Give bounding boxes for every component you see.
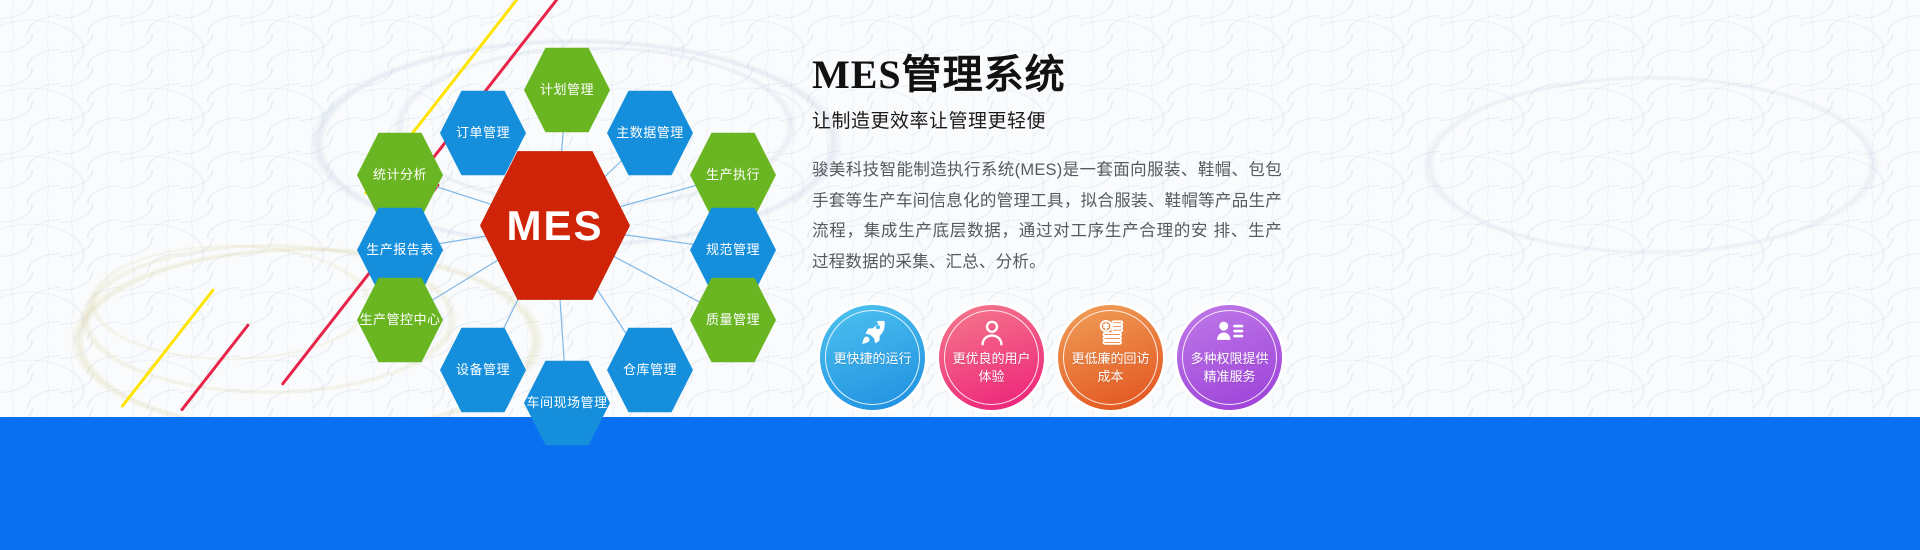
badge-text: 多种权限提供精准服务 xyxy=(1184,350,1276,385)
hex-node-label: 主数据管理 xyxy=(616,125,684,140)
hex-center-label: MES xyxy=(506,201,603,251)
hex-node-label: 质量管理 xyxy=(706,312,760,327)
hex-node-label: 仓库管理 xyxy=(623,362,677,377)
hex-node-label: 统计分析 xyxy=(373,167,427,182)
hex-node-label: 设备管理 xyxy=(456,362,510,377)
page-title: MES管理系统 xyxy=(812,52,1282,98)
content-column: MES管理系统 让制造更效率让管理更轻便 骏美科技智能制造执行系统(MES)是一… xyxy=(812,52,1282,277)
hex-node-label: 计划管理 xyxy=(540,82,594,97)
hex-node-label: 车间现场管理 xyxy=(526,395,607,410)
hex-node-label: 生产执行 xyxy=(706,167,760,182)
rocket-icon xyxy=(858,318,888,348)
bottom-blue-band xyxy=(0,417,1920,550)
user-list-icon xyxy=(1215,318,1245,348)
hex-node-label: 生产管控中心 xyxy=(359,312,440,327)
badge-text: 更快捷的运行 xyxy=(827,350,919,368)
coins-icon xyxy=(1096,318,1126,348)
mes-banner: 计划管理 订单管理 主数据管理 统计分析 生产执行 生产报告表 规范管理 生产管… xyxy=(0,0,1920,550)
feature-badge-2[interactable]: 更低廉的回访成本 xyxy=(1058,305,1163,410)
mes-hex-diagram: 计划管理 订单管理 主数据管理 统计分析 生产执行 生产报告表 规范管理 生产管… xyxy=(330,10,780,430)
badge-text: 更优良的用户体验 xyxy=(946,350,1038,385)
page-subtitle: 让制造更效率让管理更轻便 xyxy=(812,106,1282,133)
page-description: 骏美科技智能制造执行系统(MES)是一套面向服装、鞋帽、包包手套等生产车间信息化… xyxy=(812,155,1282,277)
feature-badge-0[interactable]: 更快捷的运行 xyxy=(820,305,925,410)
hex-node-label: 生产报告表 xyxy=(366,242,434,257)
badge-text: 更低廉的回访成本 xyxy=(1065,350,1157,385)
hex-node-label: 订单管理 xyxy=(456,125,510,140)
feature-badge-3[interactable]: 多种权限提供精准服务 xyxy=(1177,305,1282,410)
user-icon xyxy=(977,318,1007,348)
feature-badge-1[interactable]: 更优良的用户体验 xyxy=(939,305,1044,410)
hex-node-label: 规范管理 xyxy=(706,242,760,257)
feature-badges: 更快捷的运行 更优良的用户体验 xyxy=(820,305,1282,410)
